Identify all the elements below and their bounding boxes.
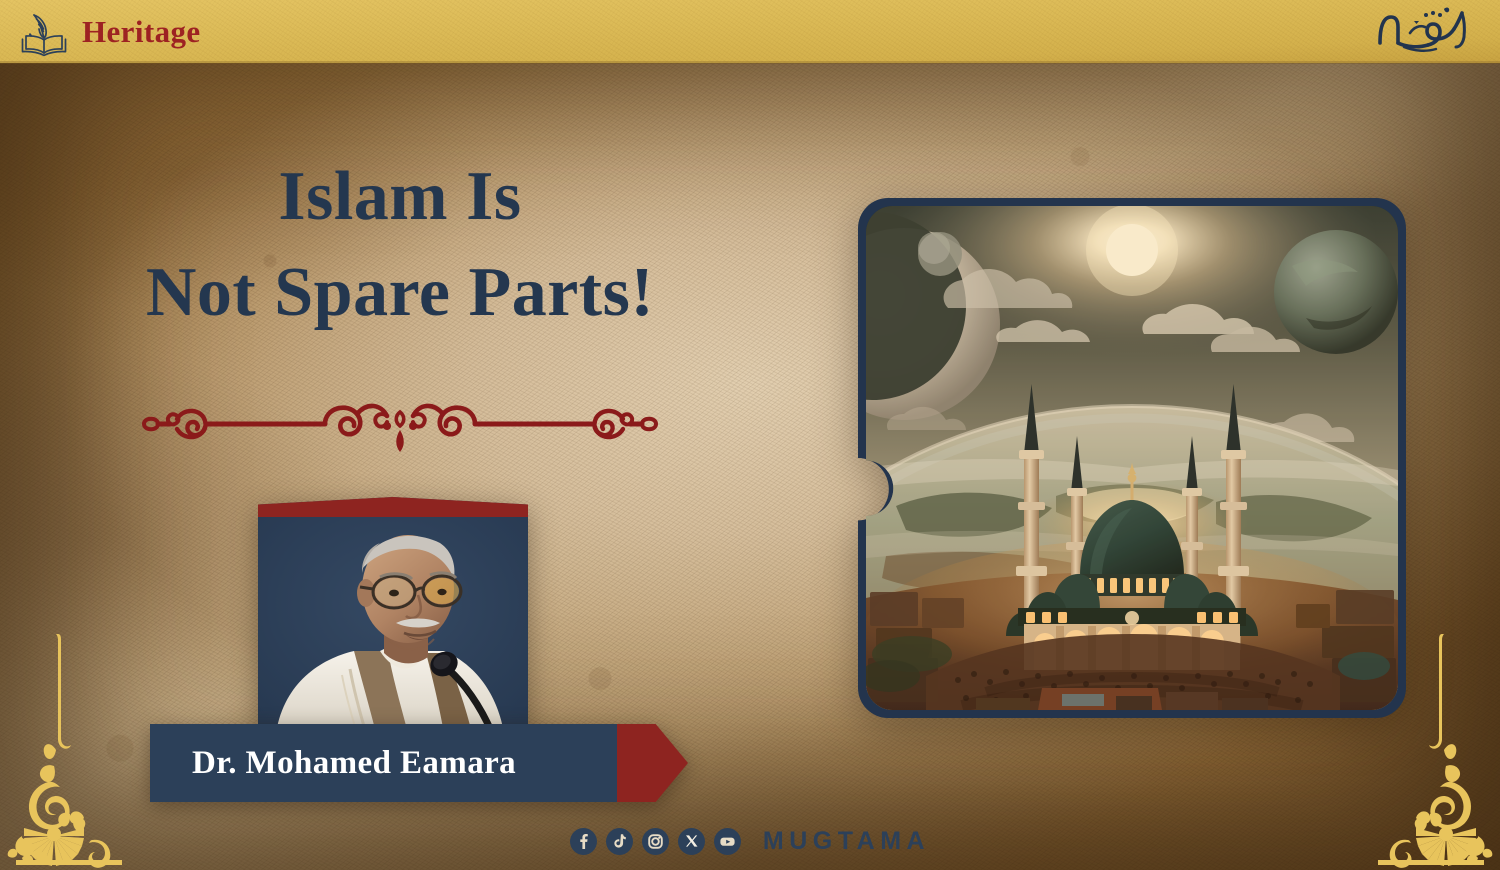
mugtama-arabic-logo[interactable] — [1370, 3, 1478, 61]
ornamental-flourish-divider — [120, 392, 680, 456]
mosque-cosmic-illustration — [866, 206, 1398, 710]
tiktok-icon[interactable] — [606, 828, 633, 855]
title-line-2: Not Spare Parts! — [0, 256, 800, 330]
poster-canvas: Heritage — [0, 0, 1500, 870]
social-footer: MUGTAMA — [0, 827, 1500, 856]
portrait-card-shape — [258, 497, 528, 732]
header-texture — [0, 0, 1500, 63]
speaker-photo — [258, 517, 528, 732]
x-twitter-icon[interactable] — [678, 828, 705, 855]
banner-body: Dr. Mohamed Eamara — [150, 724, 617, 802]
youtube-icon[interactable] — [714, 828, 741, 855]
header-bar: Heritage — [0, 0, 1500, 63]
speaker-name-banner: Dr. Mohamed Eamara — [150, 724, 685, 802]
quill-and-open-book-icon — [18, 7, 70, 57]
poster-title: Islam Is Not Spare Parts! — [0, 160, 800, 330]
panel-image-area — [866, 206, 1398, 710]
header-category-label: Heritage — [82, 14, 201, 50]
instagram-icon[interactable] — [642, 828, 669, 855]
title-line-1: Islam Is — [0, 160, 800, 234]
speaker-portrait-card — [258, 497, 528, 732]
illustration-panel[interactable] — [858, 198, 1406, 718]
brand-wordmark: MUGTAMA — [763, 827, 930, 856]
speaker-name-label: Dr. Mohamed Eamara — [192, 745, 516, 782]
facebook-icon[interactable] — [570, 828, 597, 855]
